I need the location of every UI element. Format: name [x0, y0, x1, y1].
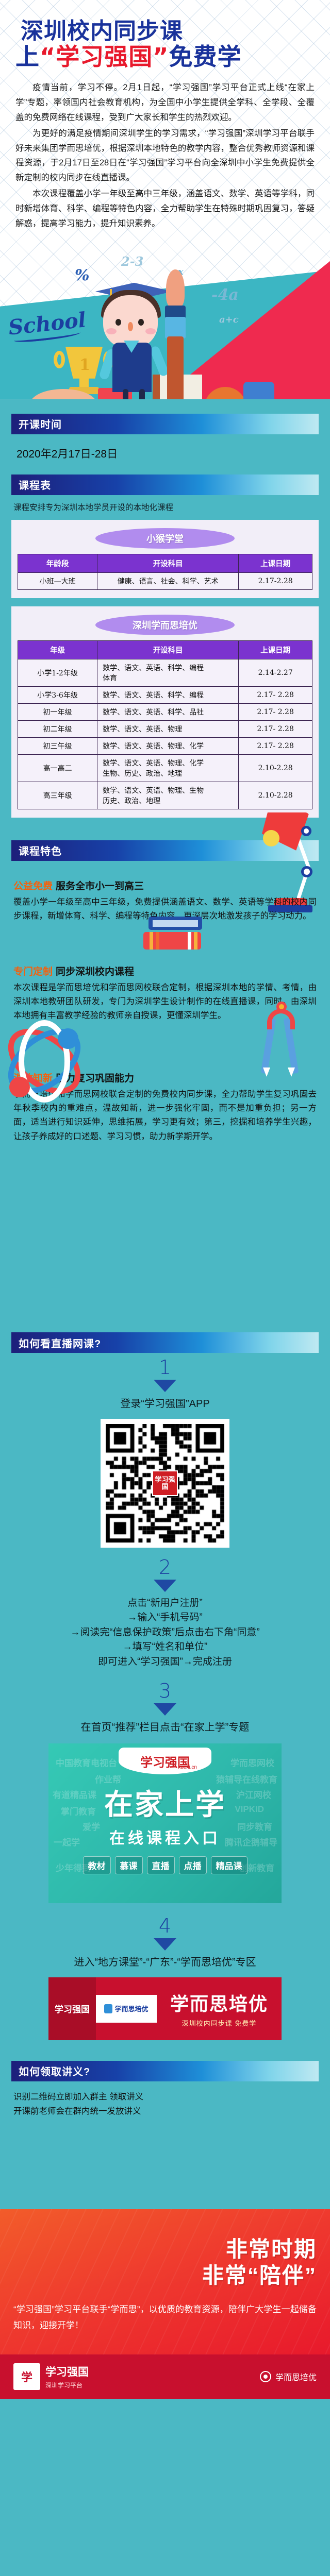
- feature-title: 服务全市小一到高三: [56, 881, 144, 892]
- table-header-row: 年龄段 开设科目 上课日期: [18, 554, 312, 572]
- section-bar-howto: 如何看直播网课?: [11, 1332, 319, 1353]
- qr-center-logo: 学习强国: [152, 1470, 178, 1496]
- cell-subjects: 数学、语文、英语、物理、化学 生物、历史、政治、地理: [97, 754, 239, 782]
- feature-body: 学而思培优和学而思网校联合定制的免费校内同步课，全力帮助学生复习巩固去年秋季校内…: [13, 1088, 317, 1144]
- banner-title: 在家上学: [48, 1782, 282, 1823]
- col-header-age: 年龄段: [18, 554, 97, 572]
- table-header-row: 年级 开设科目 上课日期: [18, 640, 312, 659]
- cell-date: 2.10-2.28: [239, 754, 312, 782]
- howto-block: 如何看直播网课? 1 登录“学习强国”APP 学习强国 2 点击“新用户注册” …: [0, 1226, 330, 2040]
- intro-paragraph: 疫情当前，学习不停。2月1日起，“学习强国”学习平台正式上线“在家上学”专题，率…: [15, 80, 315, 125]
- section-bar-features: 课程特色: [11, 840, 319, 861]
- col-header-date: 上课日期: [239, 554, 312, 572]
- feature-item-2: 专门定制同步深圳校内课程 本次课程是学而思培优和学而思网校联合定制，根据深圳本地…: [0, 924, 330, 1023]
- chip-ondemand[interactable]: 点播: [179, 1856, 207, 1874]
- cell-subjects: 数学、语文、英语、物理: [97, 720, 239, 737]
- banner-xueersi[interactable]: 学习强国 学而思培优 学而思培优 深圳校内同步课 免费学: [48, 1977, 282, 2040]
- chip-live[interactable]: 直播: [147, 1856, 175, 1874]
- hero-illustration: School % 2-3 -4a a+c x 1: [0, 234, 330, 399]
- footer-brand-name: 学习强国: [45, 2364, 89, 2379]
- step-text: 点击“新用户注册” →输入“手机号码” →阅读完“信息保护政策”后点击右下角“同…: [0, 1596, 330, 1670]
- table-row: 高一高二数学、语文、英语、物理、化学 生物、历史、政治、地理2.10-2.28: [18, 754, 312, 782]
- schedule-table-primary: 年级 开设科目 上课日期 小学1-2年级数学、语文、英语、科学、编程 体育2.1…: [18, 640, 312, 809]
- step-4: 4 进入“地方课堂”-“广东”-“学而思培优”专区 学习强国 学而思培优 学而思…: [0, 1903, 330, 2040]
- table-pill-kindergarten: 小猴学堂: [95, 528, 235, 549]
- feature-heading: 公益免费服务全市小一到高三: [13, 878, 317, 892]
- section-bar-label: 课程表: [19, 477, 51, 492]
- feature-tag: 专门定制: [13, 967, 53, 977]
- open-time-value: 2020年2月17日-28日: [0, 434, 330, 461]
- feature-title: 同步深圳校内课程: [56, 967, 134, 977]
- table-row: 初二年级数学、语文、英语、物理2.17- 2.28: [18, 720, 312, 737]
- section-bar-schedule: 课程表: [11, 474, 319, 495]
- xuexi-footer-mark: 学: [13, 2363, 40, 2390]
- table-card-primary: 深圳学而思培优 年级 开设科目 上课日期 小学1-2年级数学、语文、英语、科学、…: [11, 606, 319, 818]
- partner-logo: 学而思培优: [96, 1995, 157, 2023]
- banner-home-study[interactable]: 中国教育电视台 作业帮 有道精品课 掌门教育 爱学 一起学 少年得到 学而思网校…: [48, 1743, 282, 1903]
- math-doodle-2minus3: 2-3: [121, 254, 143, 269]
- ghost-word: 中国教育电视台: [56, 1756, 117, 1769]
- cell-grade: 小学1-2年级: [18, 659, 97, 686]
- feature-tag: 公益免费: [13, 881, 53, 892]
- cell-date: 2.17- 2.28: [239, 720, 312, 737]
- cell-subjects: 健康、语言、社会、科学、艺术: [97, 572, 239, 589]
- section-bar-label: 如何领取讲义?: [19, 2063, 90, 2078]
- down-arrow-icon: [154, 1580, 176, 1592]
- closing-line2-quote: “陪伴”: [247, 2263, 317, 2287]
- xuexi-logo: 学习强国 xuexi.cn: [119, 1748, 211, 1774]
- cell-date: 2.17- 2.28: [239, 686, 312, 703]
- closing-section: 非常时期 非常“陪伴” “学习强国”学习平台联手“学而思”，以优质的教育资源，陪…: [0, 2209, 330, 2354]
- hero-title-line1: 深圳校内同步课: [11, 20, 319, 43]
- step-number: 1: [0, 1357, 330, 1379]
- footer-partner-group: 学而思培优: [260, 2370, 317, 2383]
- cell-subjects: 数学、语文、英语、物理、化学: [97, 737, 239, 754]
- step-number: 2: [0, 1557, 330, 1579]
- page-footer: 学 学习强国 深圳学习平台 学而思培优: [0, 2354, 330, 2399]
- col-header-subjects: 开设科目: [97, 640, 239, 659]
- step-2: 2 点击“新用户注册” →输入“手机号码” →阅读完“信息保护政策”后点击右下角…: [0, 1548, 330, 1669]
- cell-grade: 初三午级: [18, 737, 97, 754]
- closing-line1: 非常时期: [226, 2237, 317, 2261]
- cell-date: 2.17- 2.28: [239, 737, 312, 754]
- xuexi-mark-text: 学习强国: [55, 2002, 90, 2015]
- partner-logo-icon: [104, 2004, 112, 2013]
- hero-title-suffix: 免费学: [169, 43, 241, 71]
- section-bar-handout: 如何领取讲义?: [11, 2061, 319, 2081]
- down-arrow-icon: [154, 1703, 176, 1716]
- table-row: 小学3-6年级数学、语文、英语、科学、编程2.17- 2.28: [18, 686, 312, 703]
- down-arrow-icon: [154, 1380, 176, 1392]
- table-pill-primary: 深圳学而思培优: [95, 615, 235, 635]
- down-arrow-icon: [154, 1938, 176, 1951]
- banner-red-subtitle: 深圳校内同步课 免费学: [157, 2018, 282, 2028]
- step-number: 3: [0, 1681, 330, 1702]
- hero-section: 深圳校内同步课 上“学习强国”免费学 疫情当前，学习不停。2月1日起，“学习强国…: [0, 0, 330, 399]
- banner-red-title: 学而思培优: [157, 1989, 282, 2016]
- table-row: 高三年级数学、语文、英语、物理、生物 历史、政治、地理2.10-2.28: [18, 782, 312, 809]
- xuexi-mark: 学习强国: [48, 1977, 96, 2040]
- infographic-page: 深圳校内同步课 上“学习强国”免费学 疫情当前，学习不停。2月1日起，“学习强国…: [0, 0, 330, 2399]
- banner-chip-list: 教材 慕课 直播 点播 精品课: [48, 1856, 282, 1874]
- qr-code-block[interactable]: 学习强国: [101, 1419, 229, 1548]
- schedule-table-kindergarten: 年龄段 开设科目 上课日期 小班—大班 健康、语言、社会、科学、艺术 2.17-…: [18, 554, 312, 590]
- table-row: 小学1-2年级数学、语文、英语、科学、编程 体育2.14-2.27: [18, 659, 312, 686]
- cell-grade: 高一高二: [18, 754, 97, 782]
- handout-block: 如何领取讲义? 识别二维码立即加入群主 领取讲义 开课前老师会在群内统一发放讲义: [0, 2040, 330, 2196]
- feature-body: 覆盖小学一年级至高中三年级，免费提供涵盖语文、数学、英语等学科的校内同步课程，新…: [13, 895, 317, 924]
- flask-icon: [243, 382, 274, 399]
- section-bar-label: 开课时间: [19, 416, 62, 431]
- footer-brand-group: 学 学习强国 深圳学习平台: [13, 2363, 89, 2390]
- closing-line2-pre: 非常: [202, 2263, 247, 2287]
- table-card-kindergarten: 小猴学堂 年龄段 开设科目 上课日期 小班—大班 健康、语言、社会、科学、艺术 …: [11, 520, 319, 598]
- partner-dot-icon: [260, 2371, 271, 2382]
- col-header-subjects: 开设科目: [97, 554, 239, 572]
- intro-paragraph: 为更好的满足疫情期间深圳学生的学习需求，“学习强国”深圳学习平台联手好未来集团学…: [15, 126, 315, 186]
- cell-date: 2.17-2.28: [239, 572, 312, 589]
- hero-title-prefix: 上: [15, 43, 40, 71]
- math-doodle-aplusc: a+c: [219, 314, 239, 325]
- section-bar-open-time: 开课时间: [11, 414, 319, 434]
- cell-subjects: 数学、语文、英语、科学、编程 体育: [97, 659, 239, 686]
- col-header-date: 上课日期: [239, 640, 312, 659]
- table-row: 小班—大班 健康、语言、社会、科学、艺术 2.17-2.28: [18, 572, 312, 589]
- table-row: 初三午级数学、语文、英语、物理、化学2.17- 2.28: [18, 737, 312, 754]
- step-number: 4: [0, 1916, 330, 1937]
- step-3: 3 在首页“推荐”栏目点击“在家上学”专题 中国教育电视台 作业帮 有道精品课 …: [0, 1669, 330, 1903]
- open-time-block: 开课时间 2020年2月17日-28日: [0, 399, 330, 461]
- cell-age: 小班—大班: [18, 572, 97, 589]
- cell-grade: 高三年级: [18, 782, 97, 809]
- step-1: 1 登录“学习强国”APP 学习强国: [0, 1353, 330, 1548]
- col-header-grade: 年级: [18, 640, 97, 659]
- feature-body: 本次课程是学而思培优和学而思网校联合定制，根据深圳本地的学情、考情，由深圳本地教…: [13, 981, 317, 1023]
- chip-premium[interactable]: 精品课: [211, 1856, 247, 1874]
- feature-item-3: 温故知新助力复习巩固能力 学而思培优和学而思网校联合定制的免费校内同步课，全力帮…: [0, 1023, 330, 1227]
- closing-body: “学习强国”学习平台联手“学而思”，以优质的教育资源，陪伴广大学生一起储备知识，…: [13, 2302, 317, 2333]
- paintbrush-icon: [164, 269, 187, 398]
- closing-headline: 非常时期 非常“陪伴”: [13, 2236, 317, 2289]
- student-legs: [121, 389, 148, 399]
- section-bar-label: 课程特色: [19, 843, 62, 858]
- hero-title-highlight: “学习强国”: [40, 43, 169, 71]
- schedule-block: 课程表 课程安排专为深圳本地学员开设的本地化课程 小猴学堂 年龄段 开设科目 上…: [0, 461, 330, 818]
- math-doodle-minus4a: -4a: [211, 286, 239, 304]
- math-doodle-percent: %: [75, 266, 90, 284]
- cell-date: 2.10-2.28: [239, 782, 312, 809]
- atom-icon: [0, 1144, 58, 1226]
- handout-text: 识别二维码立即加入群主 领取讲义 开课前老师会在群内统一发放讲义: [0, 2081, 330, 2119]
- chip-textbook[interactable]: 教材: [83, 1856, 111, 1874]
- schedule-note: 课程安排专为深圳本地学员开设的本地化课程: [0, 495, 330, 513]
- step-text: 登录“学习强国”APP: [0, 1396, 330, 1412]
- intro-text: 疫情当前，学习不停。2月1日起，“学习强国”学习平台正式上线“在家上学”专题，率…: [0, 72, 330, 231]
- footer-partner-name: 学而思培优: [275, 2370, 317, 2383]
- cell-grade: 初二年级: [18, 720, 97, 737]
- table-row: 初一年级数学、语文、英语、科学、品社2.17- 2.28: [18, 703, 312, 720]
- cell-subjects: 数学、语文、英语、物理、生物 历史、政治、地理: [97, 782, 239, 809]
- cell-subjects: 数学、语文、英语、科学、编程: [97, 686, 239, 703]
- cell-subjects: 数学、语文、英语、科学、品社: [97, 703, 239, 720]
- body-section: 开课时间 2020年2月17日-28日 课程表 课程安排专为深圳本地学员开设的本…: [0, 399, 330, 2196]
- hero-title-line2: 上“学习强国”免费学: [11, 44, 319, 69]
- partner-logo-text: 学而思培优: [114, 2004, 148, 2013]
- cell-grade: 小学3-6年级: [18, 686, 97, 703]
- cell-date: 2.17- 2.28: [239, 703, 312, 720]
- features-block: 课程特色 公益免费服务全市小一到高三 覆盖小学一年级至高中三年级，免费提供涵盖语…: [0, 818, 330, 1226]
- intro-paragraph: 本次课程覆盖小学一年级至高中三年级，涵盖语文、数学、英语等学科，同时新增体育、科…: [15, 187, 315, 231]
- footer-brand-sub: 深圳学习平台: [45, 2381, 89, 2389]
- step-text: 进入“地方课堂”-“广东”-“学而思培优”专区: [0, 1955, 330, 1970]
- xuexi-logo-sub: xuexi.cn: [178, 1765, 197, 1770]
- cell-grade: 初一年级: [18, 703, 97, 720]
- feature-item-1: 公益免费服务全市小一到高三 覆盖小学一年级至高中三年级，免费提供涵盖语文、数学、…: [0, 861, 330, 924]
- banner-subtitle: 在线课程入口: [48, 1825, 282, 1848]
- chip-mooc[interactable]: 慕课: [115, 1856, 143, 1874]
- step-text: 在首页“推荐”栏目点击“在家上学”专题: [0, 1720, 330, 1735]
- section-bar-label: 如何看直播网课?: [19, 1335, 101, 1350]
- cell-date: 2.14-2.27: [239, 659, 312, 686]
- banner-red-text: 学而思培优 深圳校内同步课 免费学: [157, 1989, 282, 2028]
- ghost-word: 学而思网校: [230, 1756, 274, 1769]
- feature-heading: 专门定制同步深圳校内课程: [13, 964, 317, 978]
